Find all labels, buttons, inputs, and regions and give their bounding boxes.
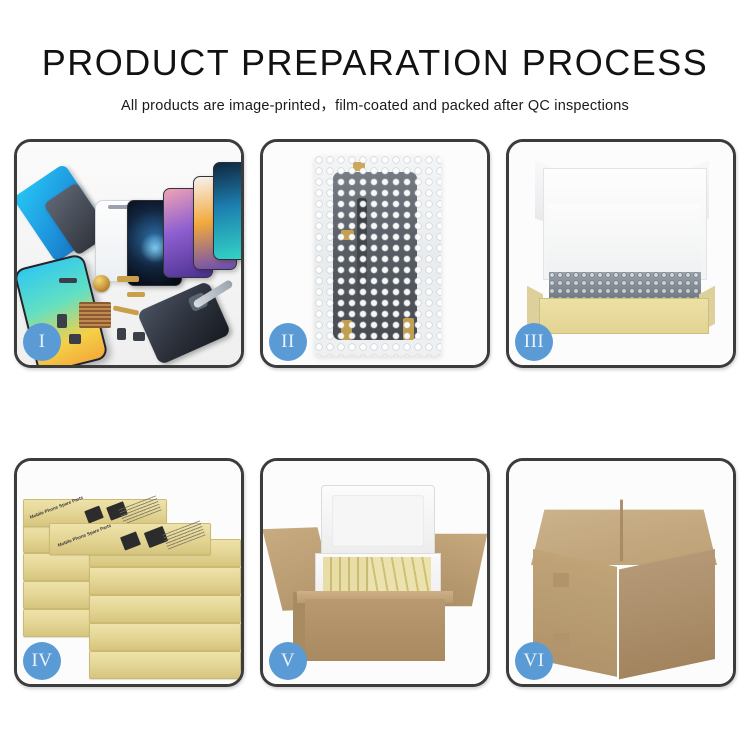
copper-mesh-icon bbox=[79, 302, 111, 328]
carton-seam-icon bbox=[620, 500, 623, 562]
chip-icon bbox=[59, 278, 77, 283]
stacked-box bbox=[89, 595, 241, 623]
step-badge-1: I bbox=[23, 323, 61, 361]
box-label: Mobile Phone Spare Parts bbox=[57, 523, 112, 548]
step-badge-4: IV bbox=[23, 642, 61, 680]
step-badge-6: VI bbox=[515, 642, 553, 680]
step-badge-5: V bbox=[269, 642, 307, 680]
carton-front-icon bbox=[305, 599, 445, 661]
step-panel-3: III bbox=[506, 139, 736, 368]
flex-cable-icon bbox=[117, 276, 139, 282]
packed-boxes-icon bbox=[323, 557, 431, 595]
connector-icon bbox=[57, 314, 67, 328]
step-panel-1: I bbox=[14, 139, 244, 368]
yellow-box-front-icon bbox=[539, 298, 709, 334]
step-panel-4: Mobile Phone Spare Parts Mobile Phone Sp… bbox=[14, 458, 244, 687]
phone-display-teal-icon bbox=[213, 162, 241, 260]
copper-coil-icon bbox=[93, 275, 110, 292]
carton-right-face-icon bbox=[619, 549, 715, 679]
step-panel-6: VI bbox=[506, 458, 736, 687]
foam-lid-icon bbox=[321, 485, 435, 557]
step-panel-2: II bbox=[260, 139, 490, 368]
step-badge-3: III bbox=[515, 323, 553, 361]
bubble-wrap-contents-icon bbox=[549, 272, 701, 300]
camera-part-icon bbox=[117, 328, 126, 340]
process-step-grid: I II bbox=[14, 139, 736, 687]
stacked-box bbox=[89, 651, 241, 679]
small-part-icon bbox=[69, 334, 81, 344]
step-panel-5: V bbox=[260, 458, 490, 687]
flex-cable-2-icon bbox=[127, 292, 145, 297]
bubble-wrap-bag-icon bbox=[315, 156, 441, 356]
foam-sheet-icon bbox=[547, 204, 701, 274]
carton-tape-icon bbox=[553, 573, 569, 587]
stacked-box bbox=[89, 623, 241, 651]
page-title: PRODUCT PREPARATION PROCESS bbox=[0, 0, 750, 82]
header: PRODUCT PREPARATION PROCESS All products… bbox=[0, 0, 750, 115]
product-preparation-infographic: PRODUCT PREPARATION PROCESS All products… bbox=[0, 0, 750, 750]
carton-tape-2-icon bbox=[553, 633, 569, 647]
page-subtitle: All products are image-printed，film-coat… bbox=[0, 82, 750, 115]
stacked-box bbox=[89, 567, 241, 595]
step-badge-2: II bbox=[269, 323, 307, 361]
speaker-part-icon bbox=[133, 332, 145, 341]
box-label: Mobile Phone Spare Parts bbox=[29, 495, 84, 520]
stacked-box-top-right: Mobile Phone Spare Parts bbox=[49, 523, 211, 555]
